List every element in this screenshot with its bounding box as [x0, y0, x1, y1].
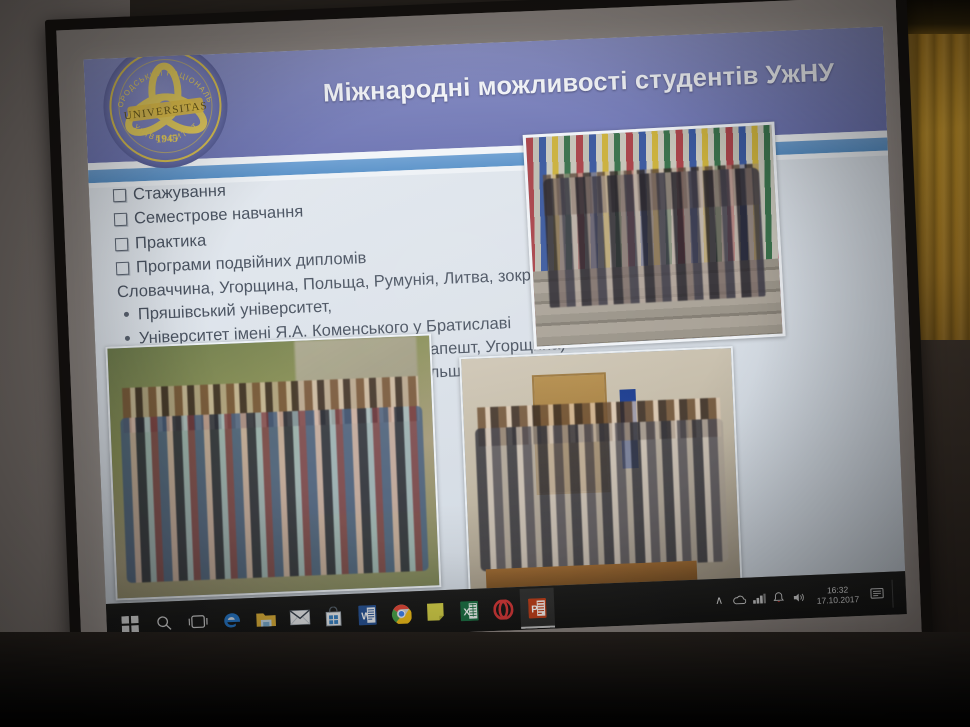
show-desktop-button[interactable]: [891, 579, 900, 607]
projection-screen: UNIVERSITAS 1945 УЖГОРОДСЬКИЙ НАЦІОНАЛЬН…: [45, 0, 933, 679]
folder-icon: [255, 609, 277, 628]
task-view-icon: [188, 614, 208, 630]
photo-people: [120, 406, 429, 583]
foreground-floor: [0, 632, 970, 727]
photo-people: [543, 167, 766, 308]
checkbox-icon: [115, 237, 129, 251]
word-icon: W: [358, 604, 377, 625]
sticky-note-icon: [426, 602, 445, 622]
clock[interactable]: 16:32 17.10.2017: [811, 585, 864, 607]
bullet-icon: [124, 312, 129, 317]
list-item-label: Практика: [135, 229, 207, 255]
checkbox-icon: [116, 261, 130, 275]
list-item-label: Стажування: [133, 180, 227, 207]
university-emblem: UNIVERSITAS 1945 УЖГОРОДСЬКИЙ НАЦІОНАЛЬН…: [101, 42, 230, 171]
chrome-button[interactable]: [384, 593, 420, 634]
opera-icon: [493, 599, 514, 620]
projected-desktop: UNIVERSITAS 1945 УЖГОРОДСЬКИЙ НАЦІОНАЛЬН…: [83, 27, 906, 647]
excel-icon: X: [460, 600, 479, 621]
shopping-bag-icon: [324, 606, 343, 627]
onedrive-icon[interactable]: [731, 591, 747, 608]
emblem-trinity-knot-icon: UNIVERSITAS 1945 УЖГОРОДСЬКИЙ НАЦІОНАЛЬН…: [101, 42, 230, 171]
chrome-icon: [391, 603, 412, 624]
photo-student-group-outdoors: [105, 333, 441, 600]
screen-surface: UNIVERSITAS 1945 УЖГОРОДСЬКИЙ НАЦІОНАЛЬН…: [56, 0, 921, 668]
excel-button[interactable]: X: [452, 590, 488, 631]
photo-student-group-indoors: [459, 346, 742, 593]
envelope-icon: [289, 609, 311, 627]
powerpoint-icon: P: [528, 597, 547, 618]
store-button[interactable]: [316, 595, 352, 636]
edge-icon: [221, 609, 243, 631]
powerpoint-button[interactable]: P: [520, 587, 556, 628]
powerpoint-slide: UNIVERSITAS 1945 УЖГОРОДСЬКИЙ НАЦІОНАЛЬН…: [83, 27, 905, 604]
svg-text:X: X: [463, 607, 470, 618]
volume-icon[interactable]: [791, 589, 807, 606]
notifications-icon[interactable]: [869, 586, 885, 603]
network-icon[interactable]: [751, 590, 767, 607]
svg-text:P: P: [531, 604, 538, 615]
checkbox-icon: [114, 213, 128, 227]
clock-date: 17.10.2017: [817, 595, 860, 607]
photo-european-parliament-flags: [523, 122, 786, 350]
bullet-icon: [125, 335, 130, 340]
magnifier-icon: [155, 614, 173, 632]
chevron-up-icon[interactable]: ∧: [711, 592, 727, 609]
checkbox-icon: [113, 189, 127, 203]
auditorium-scene: UNIVERSITAS 1945 УЖГОРОДСЬКИЙ НАЦІОНАЛЬН…: [0, 0, 970, 727]
photo-people: [475, 418, 729, 572]
action-center-icon[interactable]: [771, 590, 787, 607]
opera-button[interactable]: [486, 588, 522, 629]
system-tray: ∧: [711, 579, 907, 615]
sticky-notes-button[interactable]: [418, 591, 454, 632]
word-button[interactable]: W: [350, 594, 386, 635]
windows-logo-icon: [121, 616, 139, 634]
